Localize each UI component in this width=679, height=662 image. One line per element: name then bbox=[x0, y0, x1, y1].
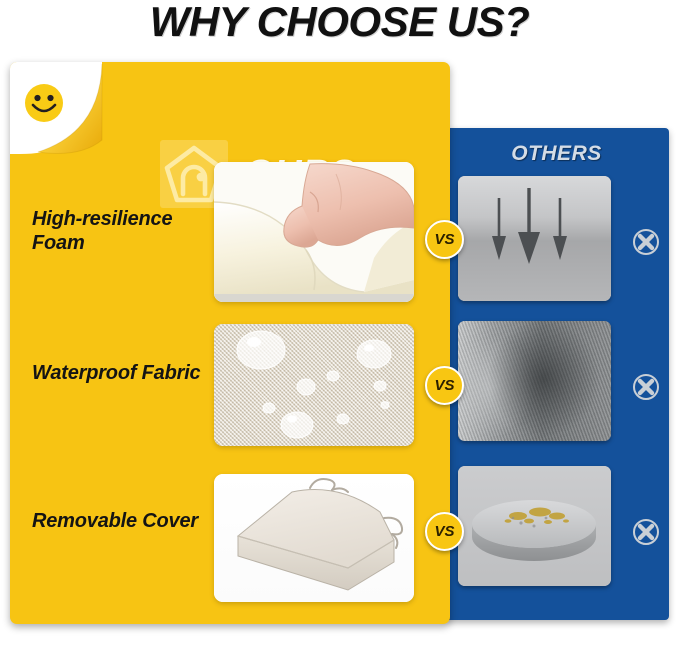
others-panel: OTHERS bbox=[444, 128, 669, 620]
vs-badge-2: VS bbox=[425, 366, 464, 405]
round-cushion-illustration-icon bbox=[458, 466, 611, 586]
vs-badge-3: VS bbox=[425, 512, 464, 551]
ours-photo-card-1 bbox=[214, 162, 414, 302]
cross-circle-icon-2 bbox=[632, 373, 660, 401]
hand-pressing-foam-photo bbox=[214, 162, 414, 302]
ours-photo-card-2 bbox=[214, 324, 414, 446]
compressed-sagging-material-photo bbox=[458, 176, 611, 301]
feature-label-3: Removable Cover bbox=[32, 510, 210, 534]
infographic-canvas: WHY CHOOSE US? OTHERS bbox=[0, 0, 679, 662]
vs-badge-1: VS bbox=[425, 220, 464, 259]
page-title: WHY CHOOSE US? bbox=[0, 0, 679, 46]
smiley-face-icon bbox=[23, 82, 65, 124]
downward-arrows-icon bbox=[458, 176, 611, 301]
others-photo-card-1 bbox=[458, 176, 611, 301]
water-beads-on-fabric-photo bbox=[214, 324, 414, 446]
feature-label-2: Waterproof Fabric bbox=[32, 362, 210, 386]
others-panel-title: OTHERS bbox=[444, 142, 669, 166]
others-photo-card-3 bbox=[458, 466, 611, 586]
cross-circle-icon-1 bbox=[632, 228, 660, 256]
cross-circle-icon-3 bbox=[632, 518, 660, 546]
ours-panel: OURS High-resilience Foam Waterproof Fab… bbox=[10, 62, 450, 624]
beige-cushion-with-ties-photo bbox=[214, 474, 414, 602]
seat-cushion-illustration-icon bbox=[214, 474, 414, 602]
soaked-stained-fabric-photo bbox=[458, 321, 611, 441]
others-photo-card-2 bbox=[458, 321, 611, 441]
water-droplets-icon bbox=[214, 324, 414, 446]
feature-label-1: High-resilience Foam bbox=[32, 208, 210, 255]
stained-round-cushion-photo bbox=[458, 466, 611, 586]
ours-photo-card-3 bbox=[214, 474, 414, 602]
hand-and-foam-illustration-icon bbox=[214, 162, 414, 302]
